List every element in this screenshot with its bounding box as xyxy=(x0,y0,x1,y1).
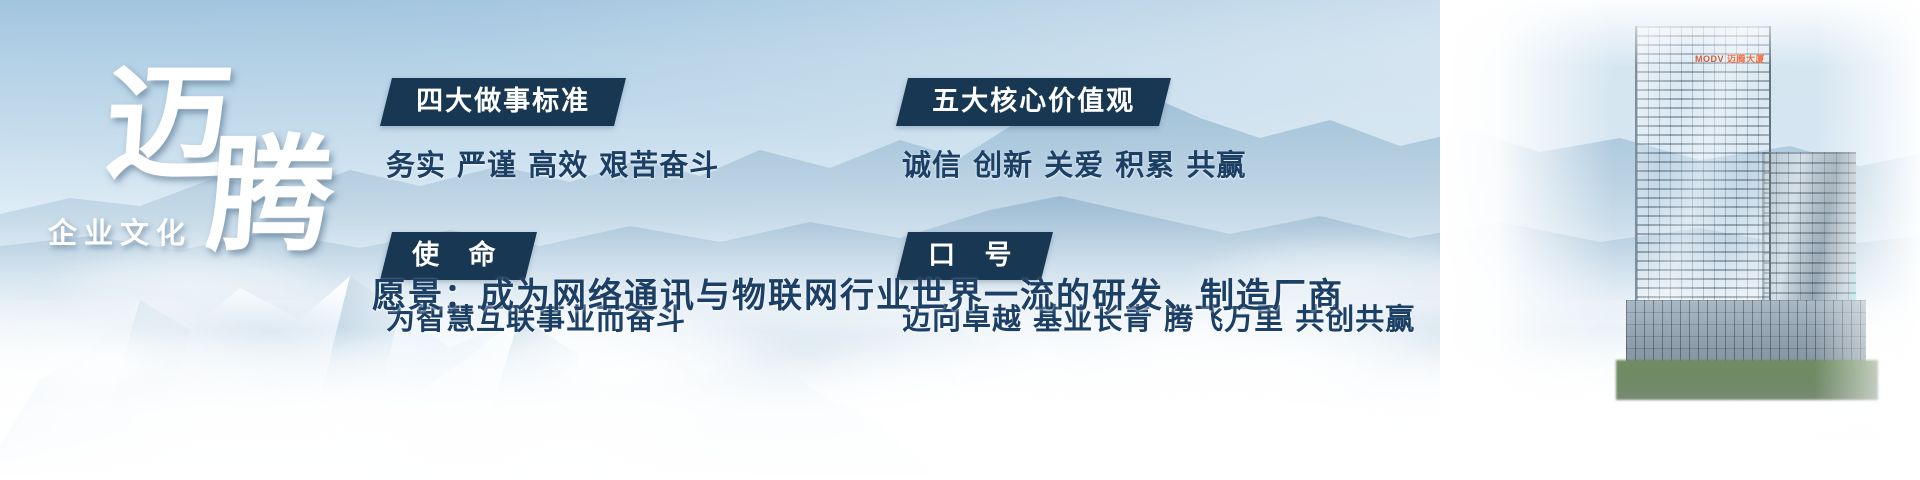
tag-work-standards: 四大做事标准 xyxy=(380,78,626,126)
photo-edge-fade xyxy=(1440,0,1920,480)
text-work-standards: 务实 严谨 高效 艰苦奋斗 xyxy=(386,142,856,184)
logo-subtitle: 企业文化 xyxy=(48,210,192,252)
block-core-values: 五大核心价值观 诚信 创新 关爱 积累 共赢 xyxy=(902,78,1422,184)
logo-char-teng: 腾 xyxy=(204,132,339,258)
text-vision: 愿景：成为网络通讯与物联网行业世界一流的研发、制造厂商 xyxy=(372,268,1344,317)
tag-core-values: 五大核心价值观 xyxy=(896,78,1171,126)
culture-banner: 迈 腾 企业文化 四大做事标准 务实 严谨 高效 艰苦奋斗 使 命 为智慧互联事… xyxy=(0,0,1920,480)
tag-core-values-label: 五大核心价值观 xyxy=(932,88,1135,115)
company-culture-logo: 迈 腾 企业文化 xyxy=(40,58,370,288)
tag-work-standards-label: 四大做事标准 xyxy=(416,88,590,115)
block-work-standards: 四大做事标准 务实 严谨 高效 艰苦奋斗 xyxy=(386,78,856,184)
text-core-values: 诚信 创新 关爱 积累 共赢 xyxy=(902,142,1422,184)
tag-slogan-label: 口 号 xyxy=(928,242,1021,269)
tag-mission-label: 使 命 xyxy=(412,242,505,269)
headquarters-building-photo: MODV 迈腾大厦 xyxy=(1440,0,1920,480)
